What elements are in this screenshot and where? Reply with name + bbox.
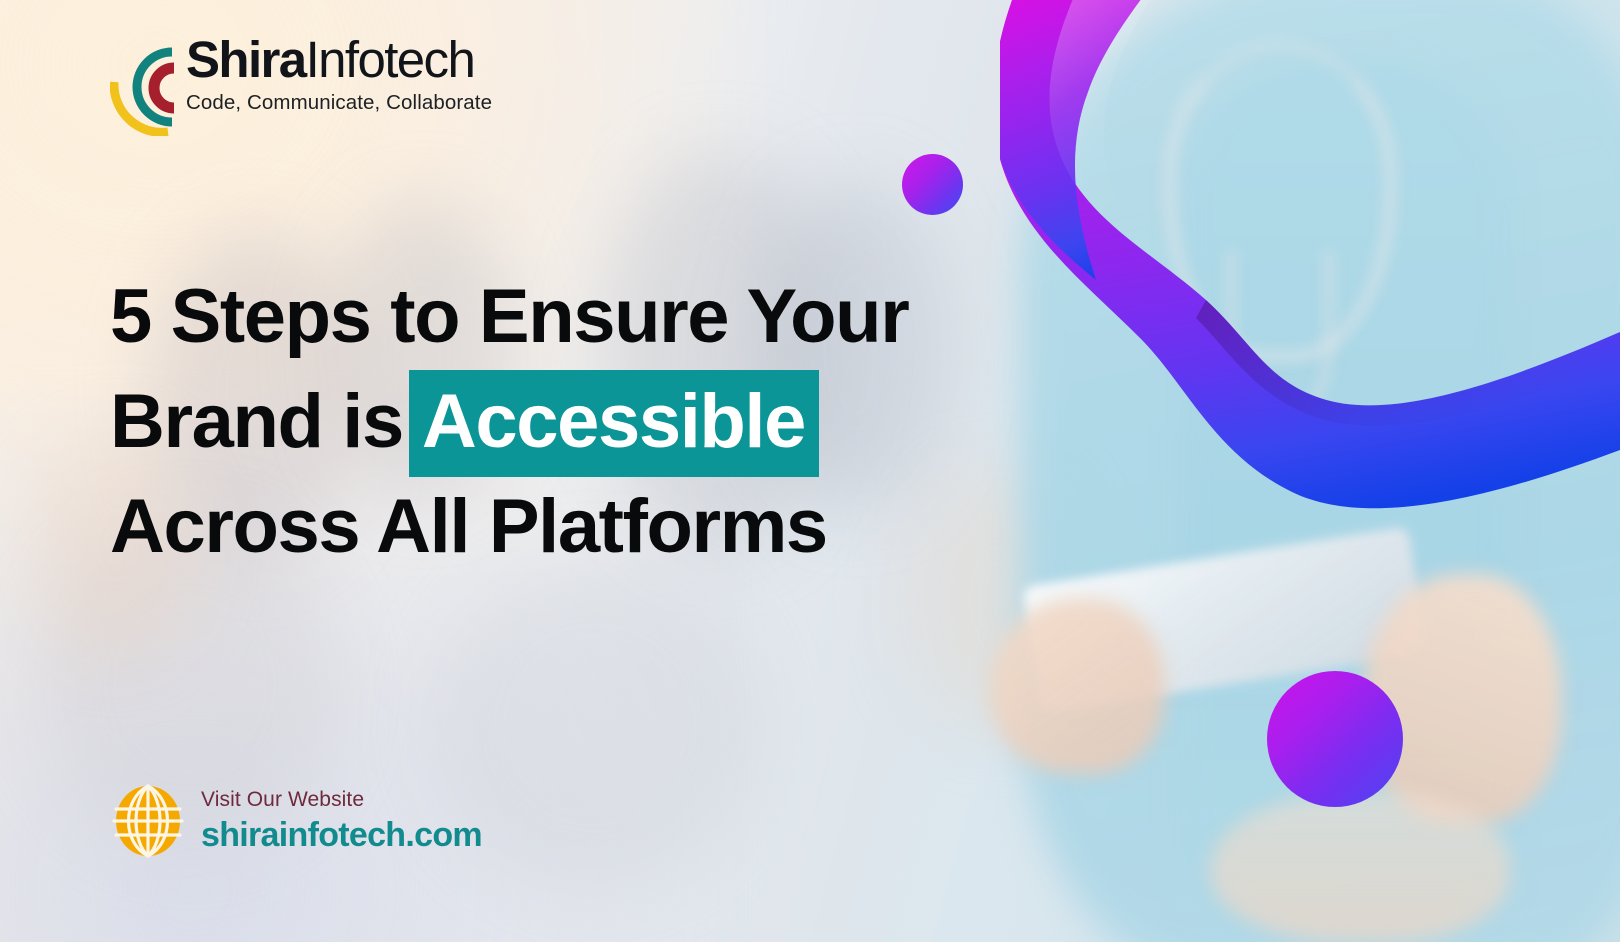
- brand-name-light: Infotech: [306, 31, 475, 88]
- headline: 5 Steps to Ensure Your Brand isAccessibl…: [110, 265, 1100, 580]
- brand-logo[interactable]: ShiraInfotech Code, Communicate, Collabo…: [110, 36, 492, 136]
- hand-lower: [1210, 792, 1510, 942]
- website-label: Visit Our Website: [201, 787, 482, 813]
- gradient-sphere-large: [1267, 671, 1403, 807]
- brand-tagline: Code, Communicate, Collaborate: [186, 91, 492, 115]
- globe-icon: [112, 783, 184, 859]
- stethoscope-tube-icon: [1226, 250, 1334, 430]
- brand-logo-text: ShiraInfotech Code, Communicate, Collabo…: [186, 36, 492, 115]
- promo-banner: ShiraInfotech Code, Communicate, Collabo…: [0, 0, 1620, 942]
- brand-name-bold: Shira: [186, 31, 306, 88]
- headline-line-2: Brand isAccessible: [110, 370, 1100, 475]
- shira-concentric-arcs-logo-icon: [110, 38, 180, 136]
- headline-line-2-prefix: Brand is: [110, 379, 403, 464]
- website-text: Visit Our Website shirainfotech.com: [201, 787, 482, 854]
- gradient-sphere-small: [902, 154, 963, 215]
- website-url[interactable]: shirainfotech.com: [201, 816, 482, 855]
- headline-line-3: Across All Platforms: [110, 475, 1100, 580]
- hand-right: [1362, 574, 1562, 824]
- hand-left: [990, 599, 1165, 774]
- headline-line-1: 5 Steps to Ensure Your: [110, 265, 1100, 370]
- brand-name: ShiraInfotech: [186, 36, 492, 85]
- website-callout[interactable]: Visit Our Website shirainfotech.com: [112, 783, 482, 859]
- headline-highlight: Accessible: [409, 370, 819, 477]
